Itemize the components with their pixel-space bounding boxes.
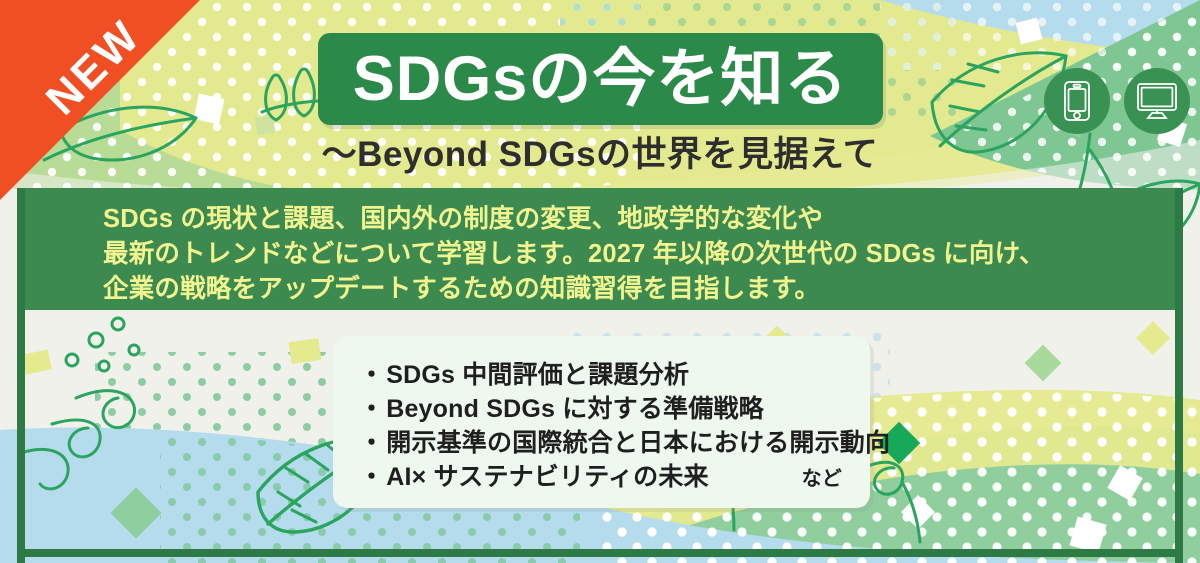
- list-item: ・ Beyond SDGs に対する準備戦略: [359, 392, 870, 426]
- bullet-mark-icon: ・: [359, 392, 384, 426]
- sdgs-course-banner: NEW SDGsの今を知る ～Beyond SDGsの世界を見据えて SDGs: [0, 0, 1200, 563]
- list-item-label: SDGs 中間評価と課題分析: [386, 358, 689, 392]
- desktop-icon: [1124, 68, 1190, 134]
- frame-rail-bottom: [17, 549, 1183, 557]
- list-item-label: AI× サステナビリティの未来: [386, 460, 709, 494]
- bullet-mark-icon: ・: [359, 358, 384, 392]
- device-icon-group: [1044, 68, 1190, 134]
- new-badge: NEW: [0, 0, 200, 200]
- frame-rail-left: [17, 188, 25, 563]
- description-line-2: 最新のトレンドなどについて学習します。2027 年以降の次世代の SDGs に向…: [103, 237, 1183, 272]
- frame-rail-right: [1175, 188, 1183, 563]
- page-title: SDGsの今を知る: [353, 48, 849, 111]
- list-item: ・ 開示基準の国際統合と日本における開示動向: [359, 426, 870, 460]
- list-item: ・ AI× サステナビリティの未来 など: [359, 460, 870, 496]
- list-item-label: Beyond SDGs に対する準備戦略: [386, 392, 764, 426]
- topics-suffix: など: [802, 462, 842, 496]
- bullet-mark-icon: ・: [359, 460, 384, 494]
- smartphone-icon: [1044, 68, 1110, 134]
- title-plate: SDGsの今を知る: [318, 33, 883, 125]
- bullet-mark-icon: ・: [359, 426, 384, 460]
- description-line-3: 企業の戦略をアップデートするための知識習得を目指します。: [103, 272, 1183, 307]
- topics-card: ・ SDGs 中間評価と課題分析 ・ Beyond SDGs に対する準備戦略 …: [333, 336, 870, 508]
- list-item-label: 開示基準の国際統合と日本における開示動向: [386, 426, 890, 460]
- description-line-1: SDGs の現状と課題、国内外の制度の変更、地政学的な変化や: [103, 202, 1183, 237]
- list-item: ・ SDGs 中間評価と課題分析: [359, 358, 870, 392]
- description-band: SDGs の現状と課題、国内外の制度の変更、地政学的な変化や 最新のトレンドなど…: [17, 188, 1183, 310]
